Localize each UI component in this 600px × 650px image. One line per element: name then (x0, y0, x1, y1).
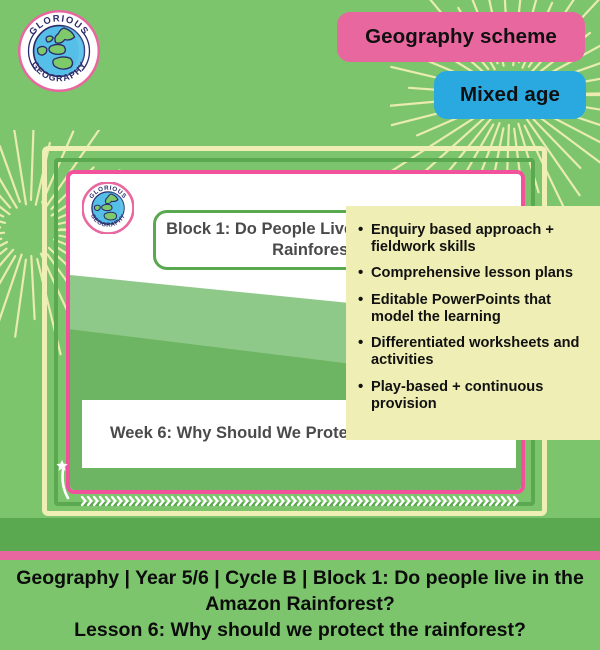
badge-geography-scheme-label: Geography scheme (365, 25, 557, 49)
list-item: Comprehensive lesson plans (358, 265, 590, 282)
list-item: Play-based + continuous provision (358, 379, 590, 413)
divider-pink-stripe (0, 551, 600, 560)
slide-logo: GLORIOUS GEOGRAPHY (82, 182, 134, 234)
features-callout: Enquiry based approach + fieldwork skill… (346, 206, 600, 440)
caption-line-3: Lesson 6: Why should we protect the rain… (74, 618, 526, 644)
divider-green-band (0, 518, 600, 551)
list-item: Differentiated worksheets and activities (358, 335, 590, 369)
glorious-geography-logo: GLORIOUS GEOGRAPHY (18, 10, 100, 92)
badge-geography-scheme[interactable]: Geography scheme (337, 12, 585, 62)
caption-block: Geography | Year 5/6 | Cycle B | Block 1… (0, 560, 600, 650)
badge-mixed-age-label: Mixed age (460, 83, 560, 107)
star-icon (53, 458, 83, 504)
list-item: Editable PowerPoints that model the lear… (358, 292, 590, 326)
features-list: Enquiry based approach + fieldwork skill… (358, 222, 590, 413)
list-item: Enquiry based approach + fieldwork skill… (358, 222, 590, 256)
poster-canvas: GLORIOUS GEOGRAPHY Geography scheme Mixe… (0, 0, 600, 650)
badge-mixed-age[interactable]: Mixed age (434, 71, 586, 119)
scalloped-trim (80, 495, 520, 507)
caption-line-1: Geography | Year 5/6 | Cycle B | Block 1… (16, 566, 584, 592)
caption-line-2: Amazon Rainforest? (205, 592, 395, 618)
